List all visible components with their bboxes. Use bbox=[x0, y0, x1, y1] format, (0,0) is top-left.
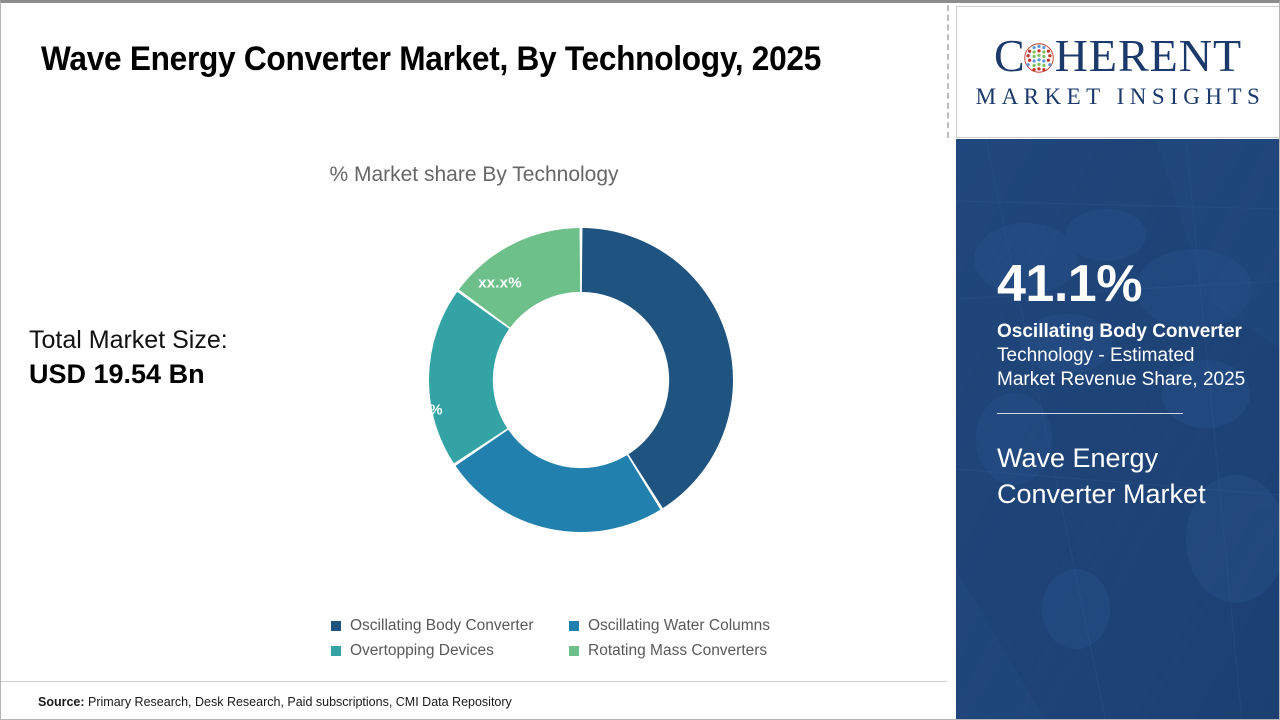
total-market-size-value: USD 19.54 Bn bbox=[29, 358, 329, 392]
chart-subtitle: % Market share By Technology bbox=[1, 163, 947, 187]
donut-chart: 41.1% xx.x% xx.x% xx.x% bbox=[426, 225, 736, 535]
highlight-panel: 41.1% Oscillating Body Converter Technol… bbox=[956, 139, 1280, 720]
legend-swatch-icon bbox=[569, 646, 579, 656]
total-market-size-block: Total Market Size: USD 19.54 Bn bbox=[29, 325, 329, 392]
donut-slice[interactable] bbox=[456, 430, 661, 532]
donut-slice-group bbox=[429, 228, 733, 532]
footer-divider bbox=[1, 681, 947, 682]
left-content-panel: Wave Energy Converter Market, By Technol… bbox=[1, 3, 947, 720]
legend-item-rotating-mass-converters[interactable]: Rotating Mass Converters bbox=[569, 642, 801, 660]
globe-icon bbox=[1024, 43, 1054, 73]
donut-chart-svg bbox=[426, 225, 736, 535]
total-market-size-label: Total Market Size: bbox=[29, 325, 329, 356]
infographic-slide: Wave Energy Converter Market, By Technol… bbox=[0, 0, 1280, 720]
legend-swatch-icon bbox=[331, 621, 341, 631]
legend-label: Overtopping Devices bbox=[350, 642, 494, 660]
panel-stat-block: 41.1% Oscillating Body Converter Technol… bbox=[997, 257, 1247, 512]
logo-letter-c: C bbox=[994, 33, 1026, 79]
legend-item-oscillating-water-columns[interactable]: Oscillating Water Columns bbox=[569, 617, 801, 635]
stat-description: Oscillating Body Converter Technology - … bbox=[997, 320, 1247, 393]
logo-wordmark: C bbox=[994, 34, 1242, 78]
chart-legend: Oscillating Body Converter Oscillating W… bbox=[331, 617, 801, 667]
slice-label-oscillating-body-converter: 41.1% bbox=[601, 333, 647, 351]
legend-label: Oscillating Water Columns bbox=[588, 617, 770, 635]
stat-highlight: Oscillating Body Converter bbox=[997, 321, 1242, 342]
panel-rule bbox=[997, 413, 1183, 414]
page-title: Wave Energy Converter Market, By Technol… bbox=[41, 35, 841, 84]
slice-label-oscillating-water-columns: xx.x% bbox=[513, 538, 557, 555]
legend-label: Rotating Mass Converters bbox=[588, 642, 767, 660]
stat-description-text: Technology - Estimated Market Revenue Sh… bbox=[997, 345, 1245, 390]
panel-market-name: Wave Energy Converter Market bbox=[997, 440, 1247, 513]
source-label: Source: bbox=[38, 695, 85, 709]
legend-swatch-icon bbox=[331, 646, 341, 656]
logo-word-rest: HERENT bbox=[1055, 33, 1242, 79]
source-note: Source: Primary Research, Desk Research,… bbox=[38, 695, 512, 709]
legend-label: Oscillating Body Converter bbox=[350, 617, 534, 635]
slice-label-overtopping-devices: xx.x% bbox=[399, 402, 443, 419]
source-text: Primary Research, Desk Research, Paid su… bbox=[88, 695, 512, 709]
panel-divider bbox=[947, 5, 949, 138]
legend-row: Overtopping Devices Rotating Mass Conver… bbox=[331, 642, 801, 660]
logo-subtitle: MARKET INSIGHTS bbox=[971, 84, 1266, 110]
brand-logo: C bbox=[956, 6, 1280, 138]
slice-label-rotating-mass-converters: xx.x% bbox=[478, 275, 522, 292]
legend-item-overtopping-devices[interactable]: Overtopping Devices bbox=[331, 642, 569, 660]
stat-percentage: 41.1% bbox=[997, 257, 1247, 312]
legend-swatch-icon bbox=[569, 621, 579, 631]
legend-row: Oscillating Body Converter Oscillating W… bbox=[331, 617, 801, 635]
legend-item-oscillating-body-converter[interactable]: Oscillating Body Converter bbox=[331, 617, 569, 635]
